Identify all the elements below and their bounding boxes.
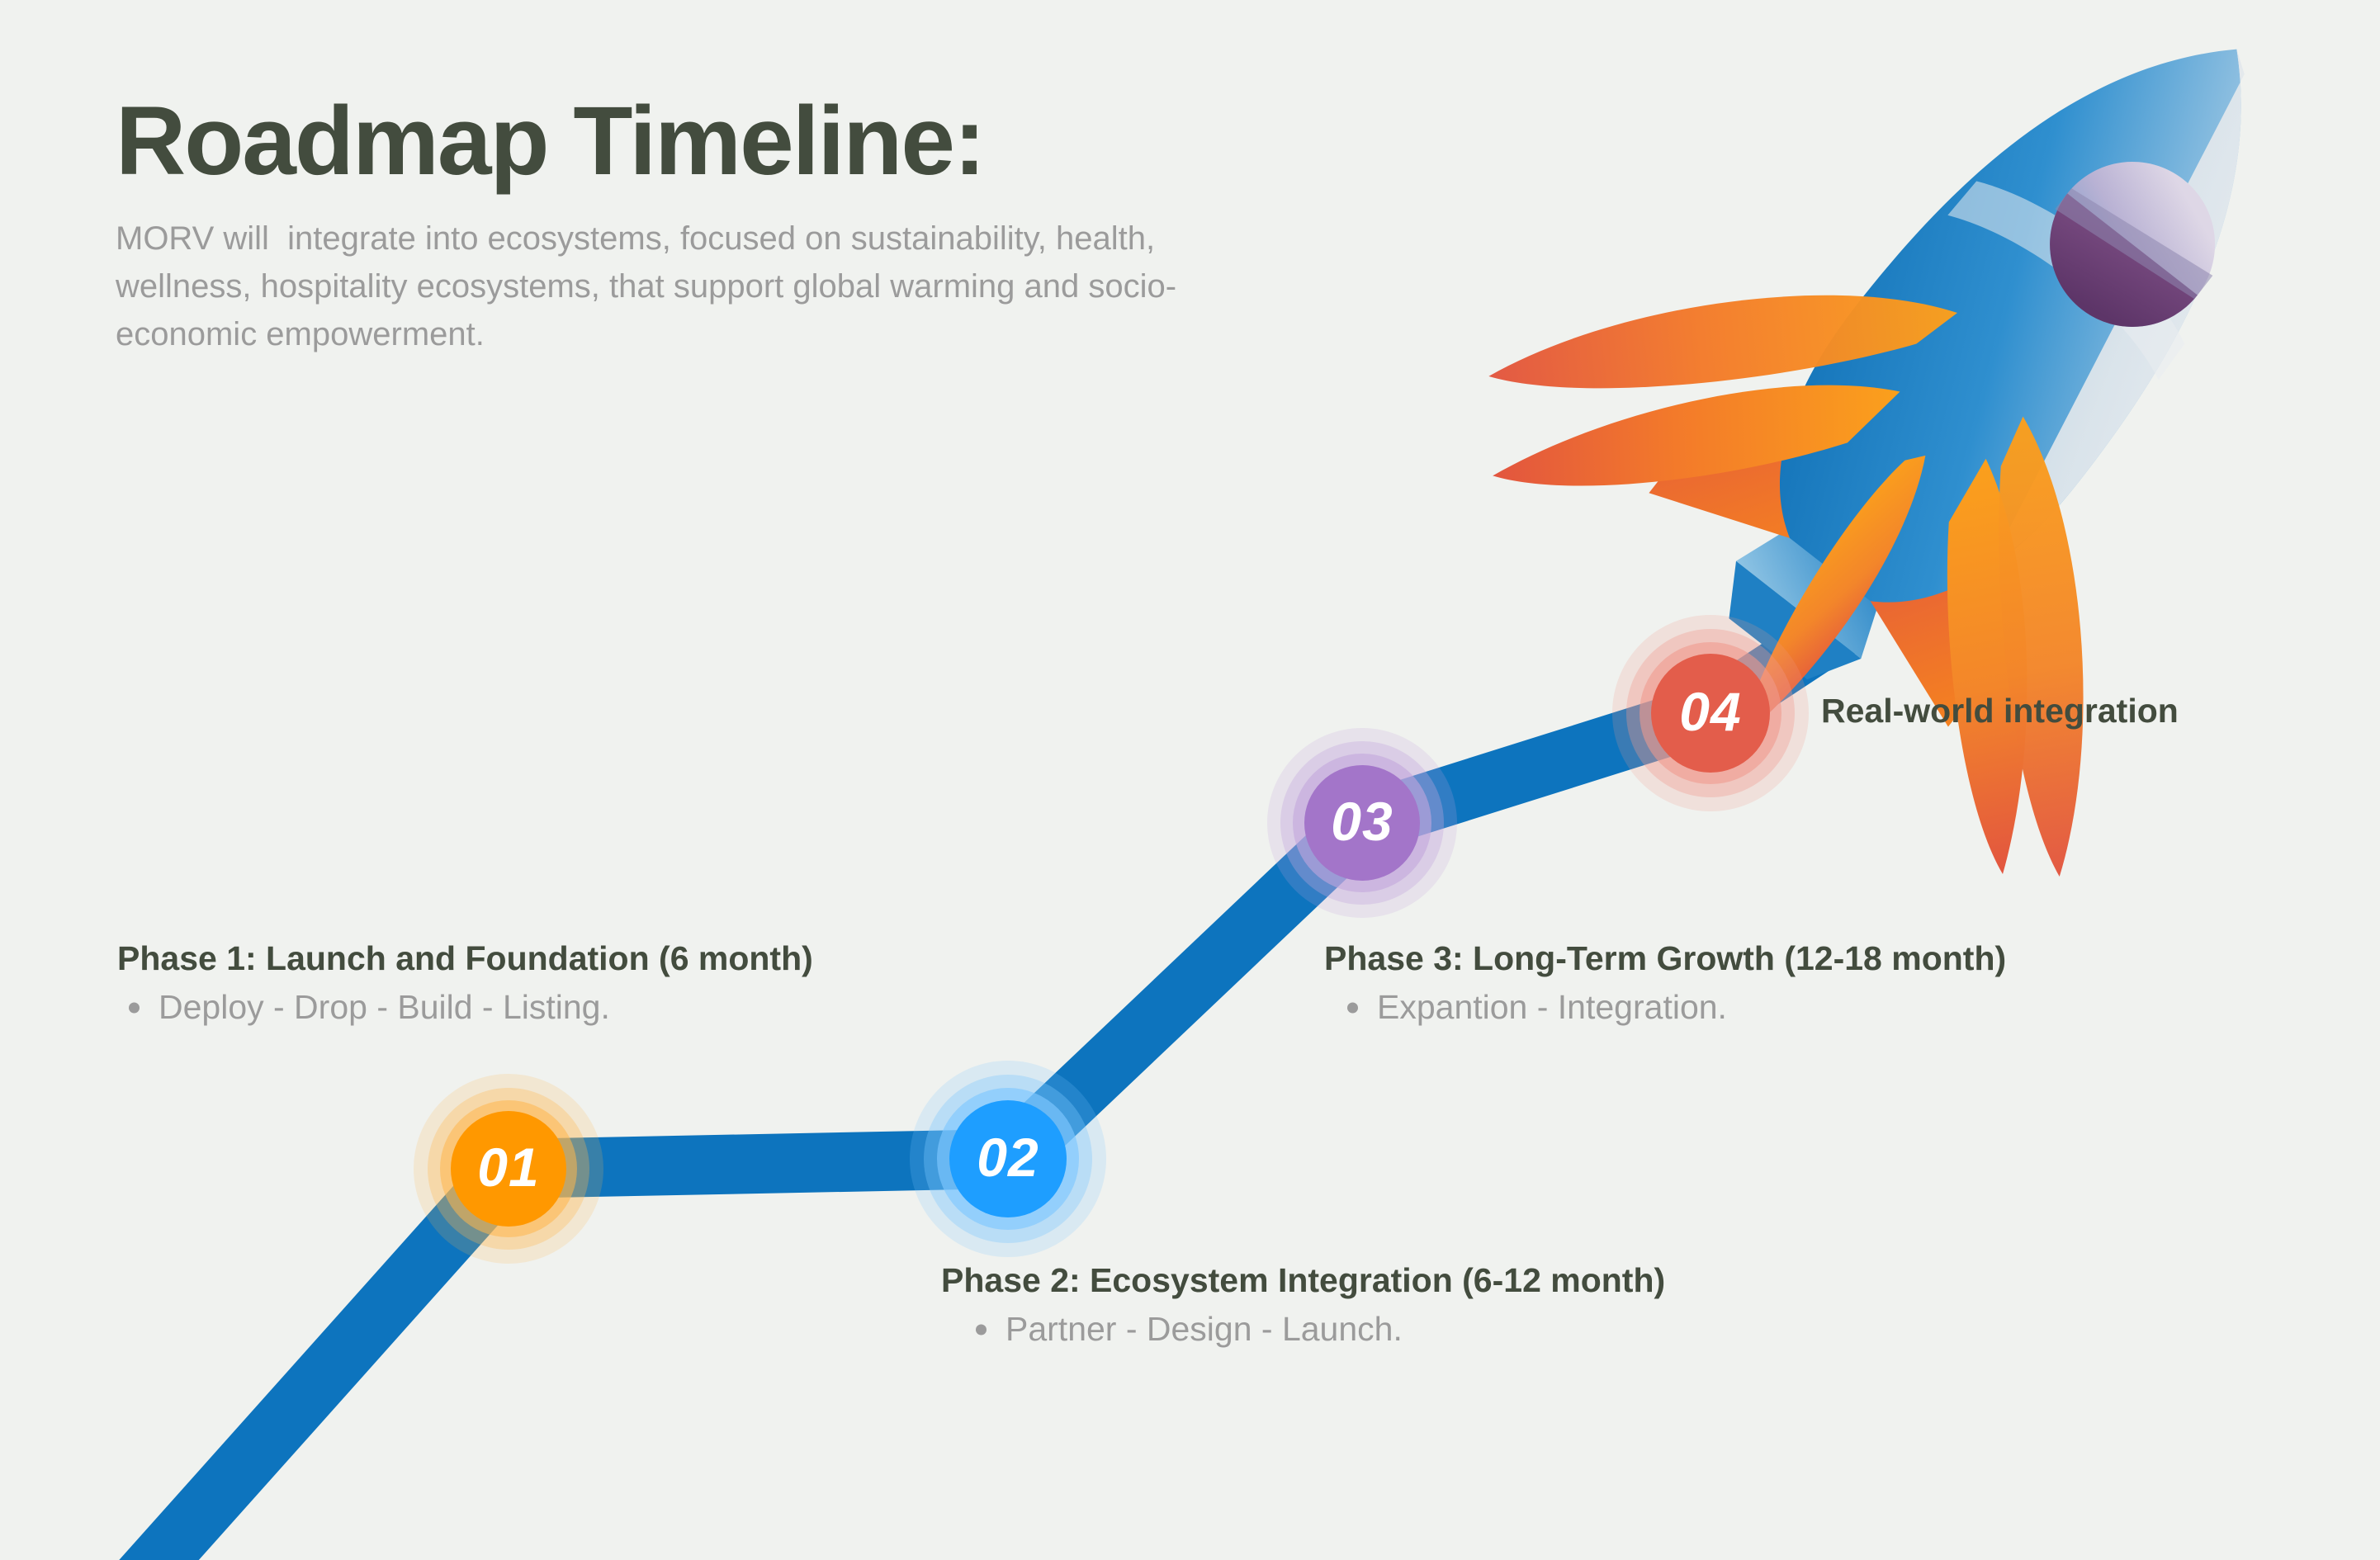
phase-1-caption: Phase 1: Launch and Foundation (6 month)… (117, 939, 813, 1030)
phase-2-title: Phase 2: Ecosystem Integration (6-12 mon… (941, 1261, 1866, 1300)
node-core: 01 (451, 1111, 566, 1227)
phase-3-bullets: Expantion - Integration. (1324, 985, 2006, 1030)
node-core: 03 (1304, 765, 1420, 881)
node-number: 04 (1679, 680, 1741, 743)
node-number: 01 (477, 1136, 539, 1198)
phase-2-bullet-0: Partner - Design - Launch. (964, 1307, 1403, 1352)
phase-4-title: Real-world integration (1821, 692, 2179, 730)
phase-3-title: Phase 3: Long-Term Growth (12-18 month) (1324, 939, 2006, 978)
rocket-illustration (1408, 0, 2380, 947)
phase-3-bullet-0: Expantion - Integration. (1336, 985, 2006, 1030)
phase-3-caption: Phase 3: Long-Term Growth (12-18 month) … (1324, 939, 2006, 1030)
node-number: 03 (1331, 790, 1393, 853)
phase-1-title: Phase 1: Launch and Foundation (6 month) (117, 939, 813, 978)
header: Roadmap Timeline: MORV will integrate in… (116, 91, 1337, 358)
page-subtitle: MORV will integrate into ecosystems, foc… (116, 215, 1288, 358)
node-core: 04 (1651, 654, 1770, 773)
phase-1-bullet-0: Deploy - Drop - Build - Listing. (117, 985, 813, 1030)
page-title: Roadmap Timeline: (116, 91, 1337, 193)
roadmap-timeline-infographic: Roadmap Timeline: MORV will integrate in… (0, 0, 2380, 1560)
node-number: 02 (977, 1126, 1039, 1189)
phase-2-caption: Phase 2: Ecosystem Integration (6-12 mon… (941, 1261, 1866, 1352)
phase-2-bullets: Partner - Design - Launch. (941, 1307, 1866, 1352)
node-core: 02 (949, 1100, 1067, 1217)
phase-1-bullets: Deploy - Drop - Build - Listing. (117, 985, 813, 1030)
